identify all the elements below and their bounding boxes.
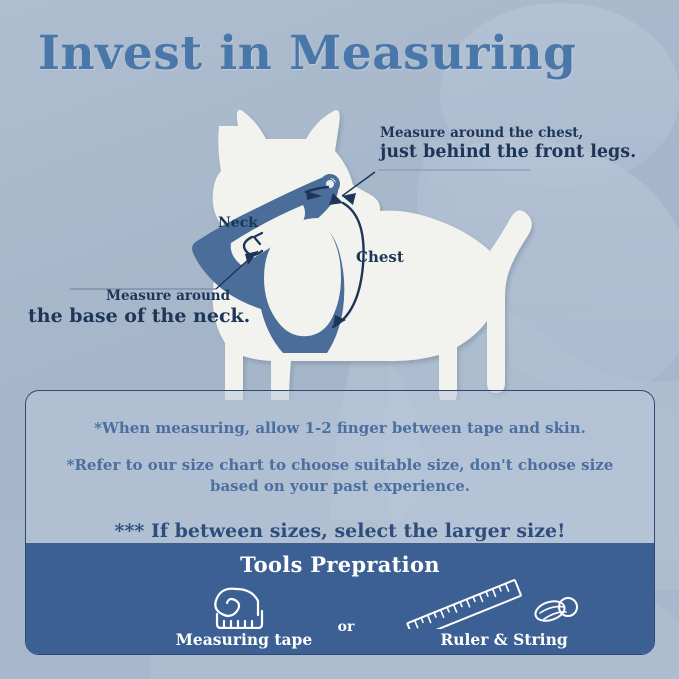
tool-ruler-string: Ruler & String xyxy=(394,579,614,649)
callout-neck: Measure around the base of the neck. xyxy=(104,288,250,329)
note-item-2: *Refer to our size chart to choose suita… xyxy=(54,455,626,498)
callout-chest-line1: Measure around the chest, xyxy=(380,125,636,142)
tools-row: Measuring tape or xyxy=(26,577,654,651)
callout-chest: Measure around the chest, just behind th… xyxy=(380,125,636,164)
tools-or-separator: or xyxy=(316,619,376,635)
tool-label-measuring-tape: Measuring tape xyxy=(144,630,344,649)
tools-panel: Tools Prepration Measuring tape or xyxy=(26,543,654,654)
callout-chest-line2: just behind the front legs. xyxy=(380,142,636,164)
label-chest: Chest xyxy=(356,248,404,266)
tool-measuring-tape: Measuring tape xyxy=(144,583,344,649)
tool-label-ruler-string: Ruler & String xyxy=(394,630,614,649)
note-item-3: *** If between sizes, select the larger … xyxy=(54,519,626,544)
ruler-and-string-icon xyxy=(394,579,614,629)
callout-neck-line1: Measure around xyxy=(104,288,250,305)
notes-panel: *When measuring, allow 1-2 finger betwee… xyxy=(25,390,655,655)
callout-neck-line2: the base of the neck. xyxy=(28,305,250,329)
notes-list: *When measuring, allow 1-2 finger betwee… xyxy=(26,391,654,544)
infographic-root: Invest in Measuring xyxy=(0,0,679,679)
page-title: Invest in Measuring xyxy=(38,26,576,81)
measuring-tape-icon xyxy=(144,583,344,629)
label-neck: Neck xyxy=(218,215,258,231)
tools-heading: Tools Prepration xyxy=(26,543,654,577)
note-item-1: *When measuring, allow 1-2 finger betwee… xyxy=(54,419,626,439)
